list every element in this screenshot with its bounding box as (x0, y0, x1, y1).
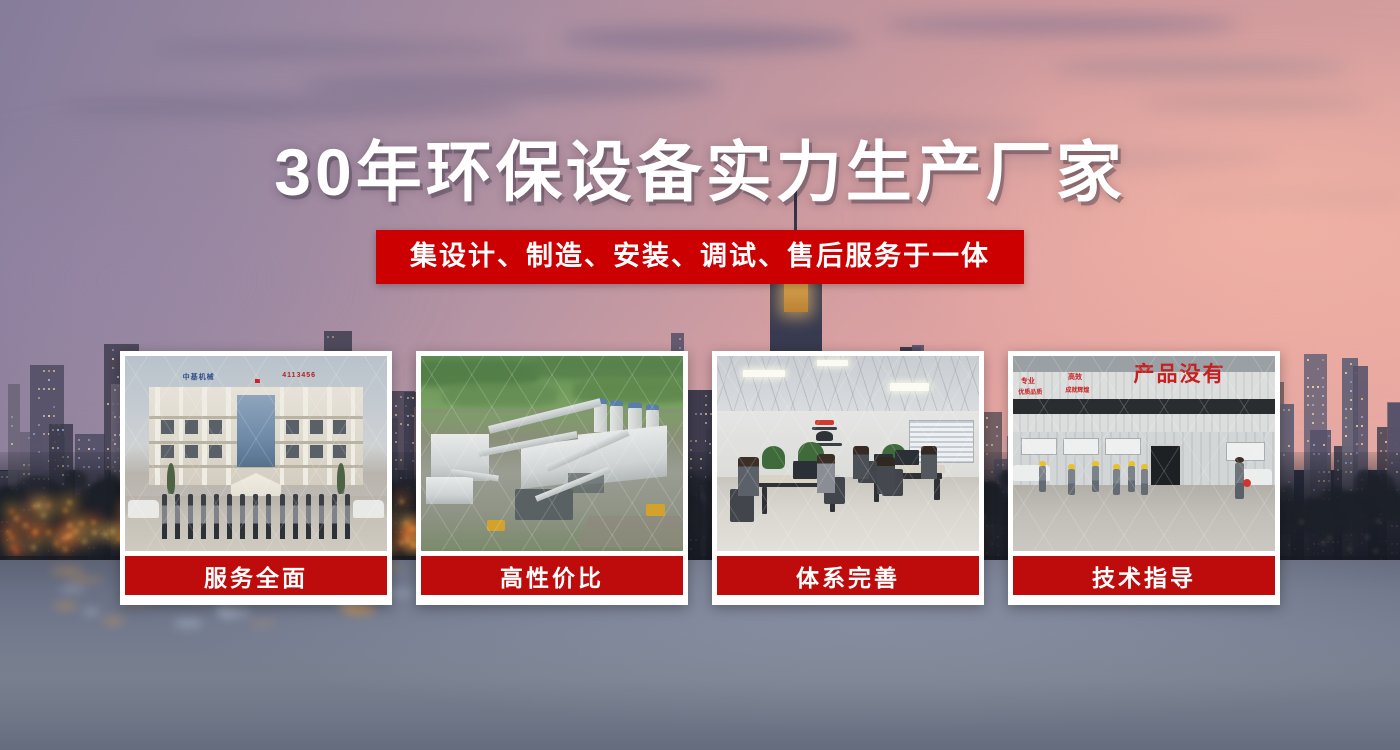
window-light (1323, 444, 1325, 446)
window-light (88, 448, 90, 450)
shore-light (1322, 542, 1325, 544)
water-reflection (217, 606, 229, 612)
window-light (1322, 359, 1324, 361)
staff-member (266, 494, 271, 539)
window-light (1322, 404, 1324, 406)
tree (337, 463, 345, 494)
window-light (1350, 363, 1352, 365)
cloud (300, 70, 720, 100)
water-reflection (250, 622, 275, 626)
card-caption: 高性价比 (416, 556, 688, 600)
staff-member (280, 494, 285, 539)
subtitle-container: 集设计、制造、安装、调试、售后服务于一体 (0, 230, 1400, 284)
window-light (1345, 408, 1347, 410)
office-building (149, 387, 364, 485)
water-reflection (345, 606, 375, 614)
window-light (53, 415, 55, 417)
window-light (43, 433, 45, 435)
parked-car (353, 500, 384, 518)
feature-card-row: 中基机械 4113456 服务全面 (120, 351, 1280, 605)
window-light (107, 403, 109, 405)
promo-banner: 30年环保设备实力生产厂家 集设计、制造、安装、调试、售后服务于一体 (0, 0, 1400, 750)
window-light (117, 376, 119, 378)
window-light (43, 370, 45, 372)
building-sign-text: 中基机械 (183, 372, 215, 382)
shore-light (10, 536, 13, 539)
window-light (1322, 386, 1324, 388)
window-light (1361, 443, 1363, 445)
window-light (1322, 377, 1324, 379)
shore-light (93, 531, 96, 534)
card-photo: 中基机械 4113456 (120, 351, 392, 556)
window-light (53, 370, 55, 372)
window-light (1307, 395, 1309, 397)
window-light (48, 415, 50, 417)
window-light (1345, 372, 1347, 374)
window-light (1313, 444, 1315, 446)
subtitle-banner: 集设计、制造、安装、调试、售后服务于一体 (376, 230, 1024, 284)
window-light (1356, 443, 1358, 445)
building-atrium (237, 395, 276, 467)
factory-worker (1128, 461, 1135, 492)
factory-workers-training-photo: 产品没有 专业 优质品质 高效 成就辉煌 (1013, 356, 1275, 551)
card-photo (712, 351, 984, 556)
factory-worker (1092, 461, 1099, 492)
cloud (150, 40, 530, 58)
feature-card[interactable]: 中基机械 4113456 服务全面 (120, 351, 392, 605)
staff-member (345, 494, 350, 539)
window-light (1307, 359, 1309, 361)
shore-light (1366, 536, 1369, 538)
window-light (1312, 386, 1314, 388)
window-light (93, 448, 95, 450)
factory-slogan-text: 产品没有 (1134, 358, 1226, 388)
instructor (1235, 457, 1244, 499)
water-reflection (83, 609, 99, 615)
feature-card[interactable]: 产品没有 专业 优质品质 高效 成就辉煌 (1008, 351, 1280, 605)
shore-light (92, 521, 95, 524)
window-light (38, 424, 40, 426)
window-light (679, 347, 681, 349)
window-light (11, 425, 13, 427)
window-light (1356, 425, 1358, 427)
aerial-industrial-plant-photo (421, 356, 683, 551)
window-light (1307, 440, 1309, 442)
staff-member (293, 494, 298, 539)
window-light (1312, 422, 1314, 424)
water-reflection (67, 578, 102, 581)
window-light (114, 434, 116, 436)
window-light (52, 447, 54, 449)
window-light (1350, 408, 1352, 410)
window-light (1361, 416, 1363, 418)
window-light (1345, 435, 1347, 437)
shore-light (68, 501, 71, 504)
window-light (1307, 377, 1309, 379)
shore-light (24, 524, 27, 527)
window-light (48, 379, 50, 381)
window-light (1307, 404, 1309, 406)
window-light (38, 388, 40, 390)
shore-light (15, 517, 18, 520)
parked-car (128, 500, 159, 518)
card-photo: 产品没有 专业 优质品质 高效 成就辉煌 (1008, 351, 1280, 556)
window-light (114, 416, 116, 418)
window-light (1350, 390, 1352, 392)
shore-light (80, 522, 83, 525)
shore-light (1348, 548, 1351, 550)
window-light (62, 429, 64, 431)
staff-member (332, 494, 337, 539)
window-light (1312, 413, 1314, 415)
window-light (38, 397, 40, 399)
feature-card[interactable]: 高性价比 (416, 351, 688, 605)
window-light (48, 370, 50, 372)
window-light (1317, 386, 1319, 388)
staff-member (201, 494, 206, 539)
window-light (88, 439, 90, 441)
factory-worker (1068, 464, 1075, 495)
water-reflection (174, 620, 204, 627)
window-light (1288, 445, 1290, 447)
window-light (1317, 368, 1319, 370)
window-light (112, 367, 114, 369)
window-light (1350, 381, 1352, 383)
window-light (1307, 386, 1309, 388)
factory-worker (1113, 464, 1120, 495)
worker-uniform (1092, 466, 1099, 492)
staff-member (240, 494, 245, 539)
window-light (57, 429, 59, 431)
window-light (327, 336, 329, 338)
window-light (53, 388, 55, 390)
water-reflection (52, 568, 83, 574)
window-light (1322, 395, 1324, 397)
window-light (43, 388, 45, 390)
worker-uniform (1141, 469, 1148, 495)
window-light (1350, 399, 1352, 401)
factory-worker (1039, 461, 1046, 492)
card-caption: 服务全面 (120, 556, 392, 600)
window-light (43, 415, 45, 417)
staff-member (319, 494, 324, 539)
window-light (1312, 395, 1314, 397)
cloud (60, 96, 520, 118)
card-caption: 体系完善 (712, 556, 984, 600)
cloud (560, 26, 860, 52)
window-light (11, 416, 13, 418)
water-reflection (59, 587, 86, 592)
staff-member (214, 494, 219, 539)
window-light (114, 443, 116, 445)
window-light (78, 439, 80, 441)
worker-uniform (1039, 466, 1046, 492)
flag (255, 379, 260, 383)
company-headquarters-building-photo: 中基机械 4113456 (125, 356, 387, 551)
window-light (52, 429, 54, 431)
shore-light (1374, 550, 1377, 552)
window-light (1322, 422, 1324, 424)
window-light (112, 349, 114, 351)
staff-member (253, 494, 258, 539)
water-reflection (53, 603, 78, 609)
tree (167, 463, 175, 494)
window-light (48, 388, 50, 390)
tree (1278, 485, 1297, 519)
staff-member (175, 494, 180, 539)
staff-member (306, 494, 311, 539)
window-light (679, 338, 681, 340)
worker-uniform (1068, 469, 1075, 495)
window-light (1361, 398, 1363, 400)
window-light (1288, 409, 1290, 411)
page-title: 30年环保设备实力生产厂家 (0, 136, 1400, 208)
building-phone-number: 4113456 (282, 372, 316, 379)
shore-light (1377, 520, 1380, 522)
office-interior-staff-photo (717, 356, 979, 551)
factory-worker (1141, 464, 1148, 495)
worker-uniform (1113, 469, 1120, 495)
window-light (57, 447, 59, 449)
card-caption: 技术指导 (1008, 556, 1280, 600)
tree (65, 470, 87, 489)
shore-light (104, 533, 107, 536)
window-light (78, 448, 80, 450)
window-light (1380, 432, 1382, 434)
window-light (1322, 413, 1324, 415)
window-light (1312, 404, 1314, 406)
window-light (114, 389, 116, 391)
window-light (53, 406, 55, 408)
window-light (332, 336, 334, 338)
window-light (1361, 434, 1363, 436)
water-reflection (102, 618, 124, 624)
shore-light (1328, 537, 1331, 539)
window-light (1361, 425, 1363, 427)
window-light (1328, 435, 1330, 437)
staff-member (188, 494, 193, 539)
feature-card[interactable]: 体系完善 (712, 351, 984, 605)
factory-door (1149, 444, 1182, 491)
window-light (1283, 409, 1285, 411)
card-photo (416, 351, 688, 556)
cloud (880, 14, 1240, 36)
window-light (11, 443, 13, 445)
staff-member (227, 494, 232, 539)
window-light (107, 448, 109, 450)
window-light (1345, 426, 1347, 428)
window-light (33, 433, 35, 435)
worker-uniform (1128, 466, 1135, 492)
window-light (1345, 417, 1347, 419)
window-light (112, 358, 114, 360)
staff-member (162, 494, 167, 539)
